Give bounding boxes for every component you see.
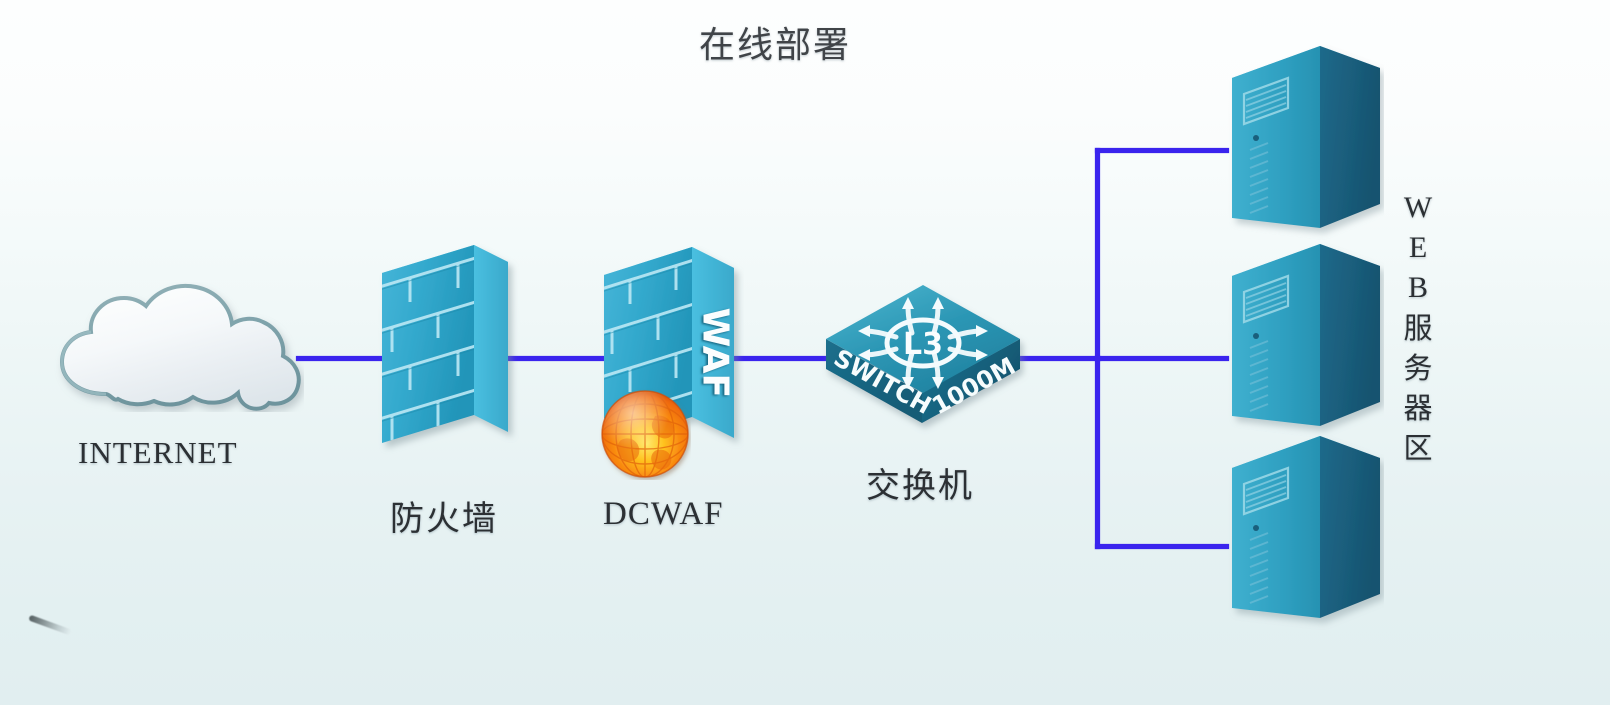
server-tower-icon-middle <box>1228 240 1384 445</box>
page-title-text: 在线部署 <box>699 25 851 66</box>
dcwaf-side-letter-w: W <box>695 308 736 346</box>
web-zone-label: W E B 服 务 器 区 <box>1395 188 1441 468</box>
internet-label: INTERNET <box>78 435 238 471</box>
stray-mark <box>28 615 71 636</box>
web-zone-label-line-7: 区 <box>1395 428 1441 468</box>
link-bus-server-bottom <box>1095 544 1229 549</box>
server-tower-icon-bottom <box>1228 432 1384 637</box>
firewall-label: 防火墙 <box>390 491 498 540</box>
switch-icon: L3 SWITCH 1000M <box>820 275 1030 435</box>
dcwaf-side-text: WAF <box>695 308 736 354</box>
web-zone-label-line-5: 务 <box>1395 348 1441 388</box>
web-zone-label-line-1: W <box>1395 188 1441 228</box>
dcwaf-label: DCWAF <box>603 496 724 533</box>
switch-l3-text: L3 <box>903 327 943 362</box>
link-bus-server-top <box>1095 148 1229 153</box>
network-topology-diagram: 在线部署 <box>0 0 1610 705</box>
web-zone-label-line-2: E <box>1395 228 1441 268</box>
web-zone-label-line-6: 器 <box>1395 388 1441 428</box>
server-tower-icon-top <box>1228 42 1384 247</box>
web-zone-label-line-3: B <box>1395 268 1441 308</box>
web-zone-label-line-4: 服 <box>1395 308 1441 348</box>
firewall-icon <box>372 240 520 470</box>
dcwaf-side-letter-f: F <box>695 373 736 398</box>
globe-icon <box>599 388 691 480</box>
switch-label: 交换机 <box>866 458 974 507</box>
cloud-icon <box>36 282 304 412</box>
server-bus-trunk <box>1095 148 1100 549</box>
dcwaf-side-letter-a: A <box>695 346 736 374</box>
link-bus-server-middle <box>1095 356 1229 361</box>
